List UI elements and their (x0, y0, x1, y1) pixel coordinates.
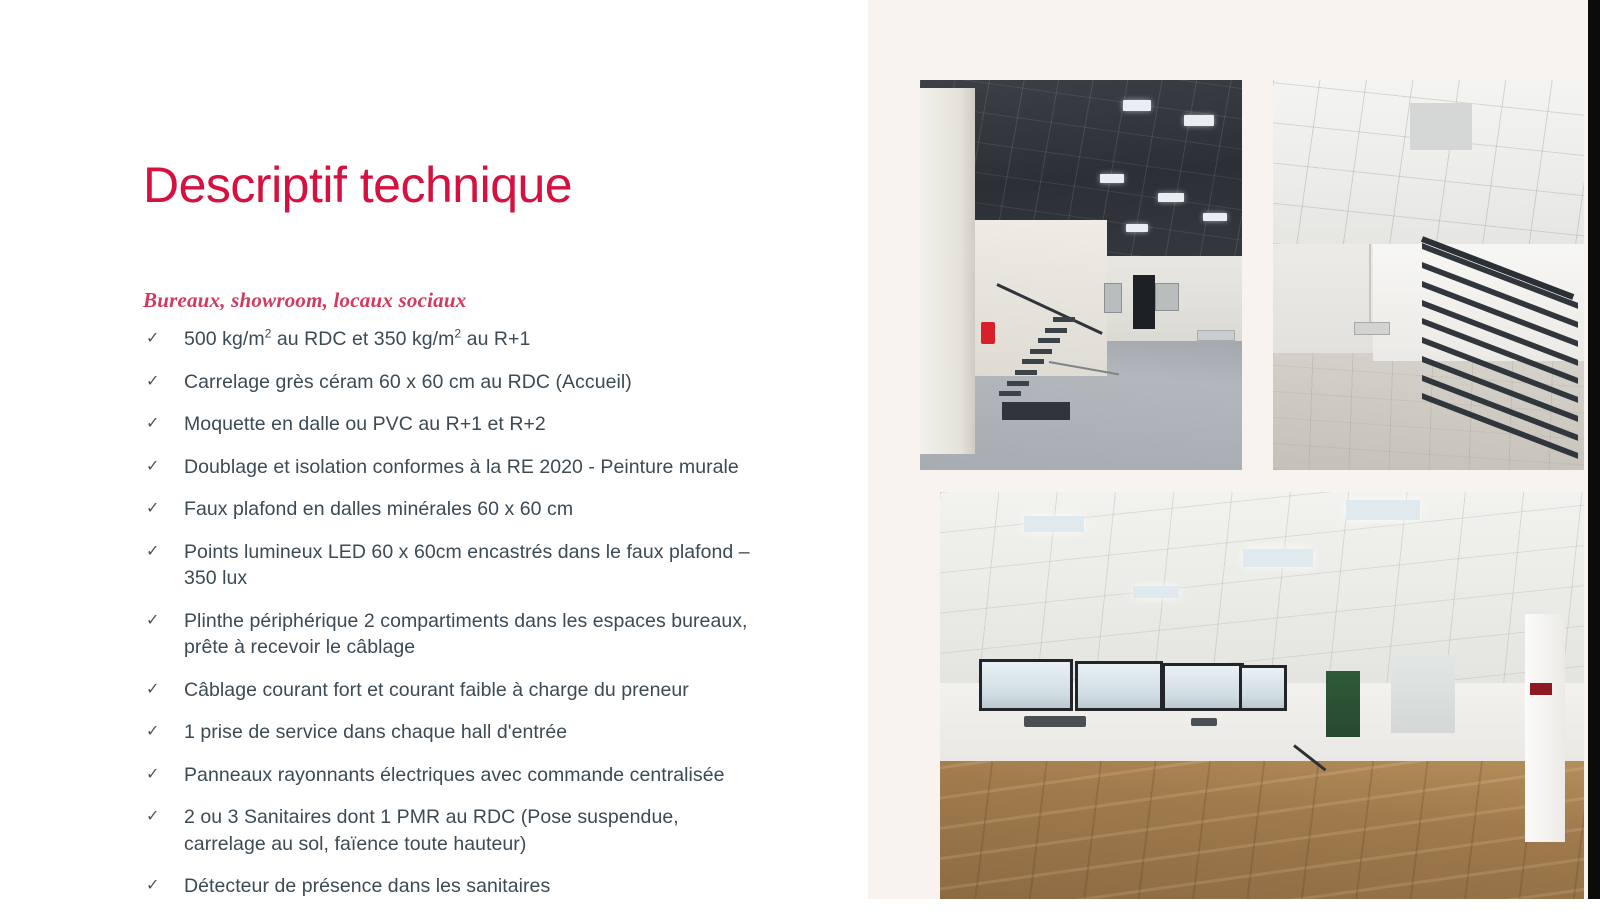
list-item-label: 2 ou 3 Sanitaires dont 1 PMR au RDC (Pos… (184, 804, 853, 857)
led-light (1158, 193, 1184, 202)
checkmark-icon: ✓ (143, 369, 184, 395)
skylight (1346, 500, 1420, 520)
section-subtitle: Bureaux, showroom, locaux sociaux (143, 288, 466, 313)
list-item-label: 500 kg/m2 au RDC et 350 kg/m2 au R+1 (184, 326, 853, 353)
list-item: ✓1 prise de service dans chaque hall d'e… (143, 719, 853, 746)
list-item-label: 1 prise de service dans chaque hall d'en… (184, 719, 853, 746)
led-light (1184, 115, 1214, 126)
specification-list: ✓500 kg/m2 au RDC et 350 kg/m2 au R+1✓Ca… (143, 326, 853, 916)
list-item: ✓Doublage et isolation conformes à la RE… (143, 454, 853, 481)
list-item: ✓Points lumineux LED 60 x 60cm encastrés… (143, 539, 853, 592)
window-glass (982, 662, 1070, 708)
staircase (997, 298, 1106, 431)
radiator (1191, 718, 1217, 726)
list-item: ✓Carrelage grès céram 60 x 60 cm au RDC … (143, 369, 853, 396)
led-panel (1024, 516, 1084, 532)
led-light (1126, 224, 1148, 232)
right-edge-strip (1588, 0, 1600, 899)
window-frame (1162, 663, 1244, 711)
led-light (1100, 174, 1124, 183)
list-item-label: Moquette en dalle ou PVC au R+1 et R+2 (184, 411, 853, 438)
window-frame (1075, 661, 1163, 711)
window-frame (1239, 665, 1287, 711)
photo-panel (868, 0, 1588, 899)
window-glass (1242, 668, 1284, 708)
checkmark-icon: ✓ (143, 804, 184, 830)
foreground-pillar (920, 88, 975, 455)
checkmark-icon: ✓ (143, 677, 184, 703)
list-item: ✓2 ou 3 Sanitaires dont 1 PMR au RDC (Po… (143, 804, 853, 857)
list-item: ✓Câblage courant fort et courant faible … (143, 677, 853, 704)
list-item: ✓Faux plafond en dalles minérales 60 x 6… (143, 496, 853, 523)
checkmark-icon: ✓ (143, 608, 184, 634)
checkmark-icon: ✓ (143, 454, 184, 480)
photo-plateau-bureaux (940, 492, 1584, 899)
checkmark-icon: ✓ (143, 873, 184, 899)
ceiling-tile-grey (1410, 103, 1472, 150)
list-item-label: Détecteur de présence dans les sanitaire… (184, 873, 853, 900)
led-light (1123, 100, 1151, 111)
checkmark-icon: ✓ (143, 762, 184, 788)
led-panel (1243, 549, 1313, 567)
list-item-label: Panneaux rayonnants électriques avec com… (184, 762, 853, 789)
radiator (1354, 322, 1390, 335)
interior-window (1155, 283, 1179, 311)
checkmark-icon: ✓ (143, 719, 184, 745)
photo-showroom-rdc (920, 80, 1242, 470)
list-item-label: Plinthe périphérique 2 compartiments dan… (184, 608, 853, 661)
list-item: ✓Panneaux rayonnants électriques avec co… (143, 762, 853, 789)
glass-partition (1391, 655, 1455, 733)
wood-plank-texture (940, 736, 1584, 899)
list-item: ✓Détecteur de présence dans les sanitair… (143, 873, 853, 900)
page-title: Descriptif technique (143, 160, 572, 210)
led-light (1203, 213, 1227, 221)
list-item-label: Points lumineux LED 60 x 60cm encastrés … (184, 539, 853, 592)
window-frame (979, 659, 1073, 711)
fire-extinguisher-icon (981, 322, 995, 344)
interior-window (1104, 283, 1122, 313)
exit-sign-icon (1530, 683, 1552, 695)
led-panel (1133, 586, 1179, 598)
doorway (1133, 275, 1155, 329)
list-item: ✓Moquette en dalle ou PVC au R+1 et R+2 (143, 411, 853, 438)
checkmark-icon: ✓ (143, 411, 184, 437)
checkmark-icon: ✓ (143, 326, 184, 352)
list-item: ✓Plinthe périphérique 2 compartiments da… (143, 608, 853, 661)
list-item: ✓500 kg/m2 au RDC et 350 kg/m2 au R+1 (143, 326, 853, 353)
checkmark-icon: ✓ (143, 539, 184, 565)
list-item-label: Carrelage grès céram 60 x 60 cm au RDC (… (184, 369, 853, 396)
corner-pillar (1525, 614, 1565, 842)
list-item-label: Câblage courant fort et courant faible à… (184, 677, 853, 704)
window-glass (1078, 664, 1160, 708)
photo-local-escalier (1273, 80, 1584, 470)
radiator (1197, 330, 1235, 341)
radiator (1024, 716, 1086, 727)
list-item-label: Faux plafond en dalles minérales 60 x 60… (184, 496, 853, 523)
window-glass (1165, 666, 1241, 708)
list-item-label: Doublage et isolation conformes à la RE … (184, 454, 853, 481)
checkmark-icon: ✓ (143, 496, 184, 522)
green-door (1326, 671, 1360, 737)
